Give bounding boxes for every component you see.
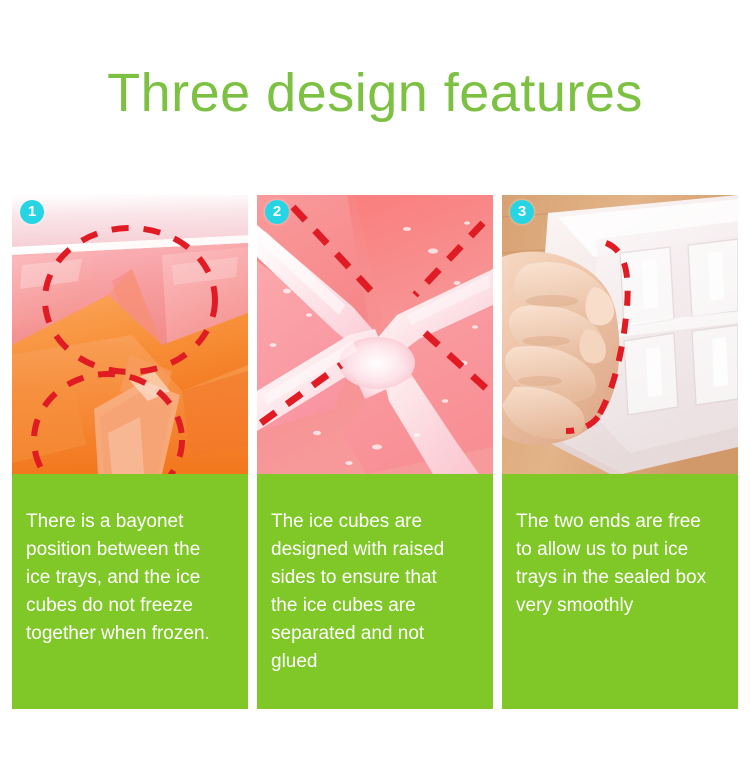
- feature-caption-1: There is a bayonet position between the …: [12, 474, 248, 709]
- hand-holding-sealed-box-photo: [502, 195, 738, 474]
- page-title: Three design features: [0, 62, 750, 124]
- features-row: 1 There is a bayonet position between th…: [12, 195, 738, 709]
- feature-card-1[interactable]: 1 There is a bayonet position between th…: [12, 195, 248, 709]
- feature-badge-1: 1: [20, 200, 44, 224]
- feature-photo-3: 3: [502, 195, 738, 474]
- ice-tray-raised-sides-photo: [257, 195, 493, 474]
- ice-tray-bayonet-photo: [12, 195, 248, 474]
- feature-card-3[interactable]: 3 The two ends are free to allow us to p…: [502, 195, 738, 709]
- feature-caption-3: The two ends are free to allow us to put…: [502, 474, 738, 709]
- feature-badge-3: 3: [510, 200, 534, 224]
- feature-caption-2: The ice cubes are designed with raised s…: [257, 474, 493, 709]
- feature-badge-2: 2: [265, 200, 289, 224]
- feature-card-2[interactable]: 2 The ice cubes are designed with raised…: [257, 195, 493, 709]
- feature-photo-1: 1: [12, 195, 248, 474]
- feature-photo-2: 2: [257, 195, 493, 474]
